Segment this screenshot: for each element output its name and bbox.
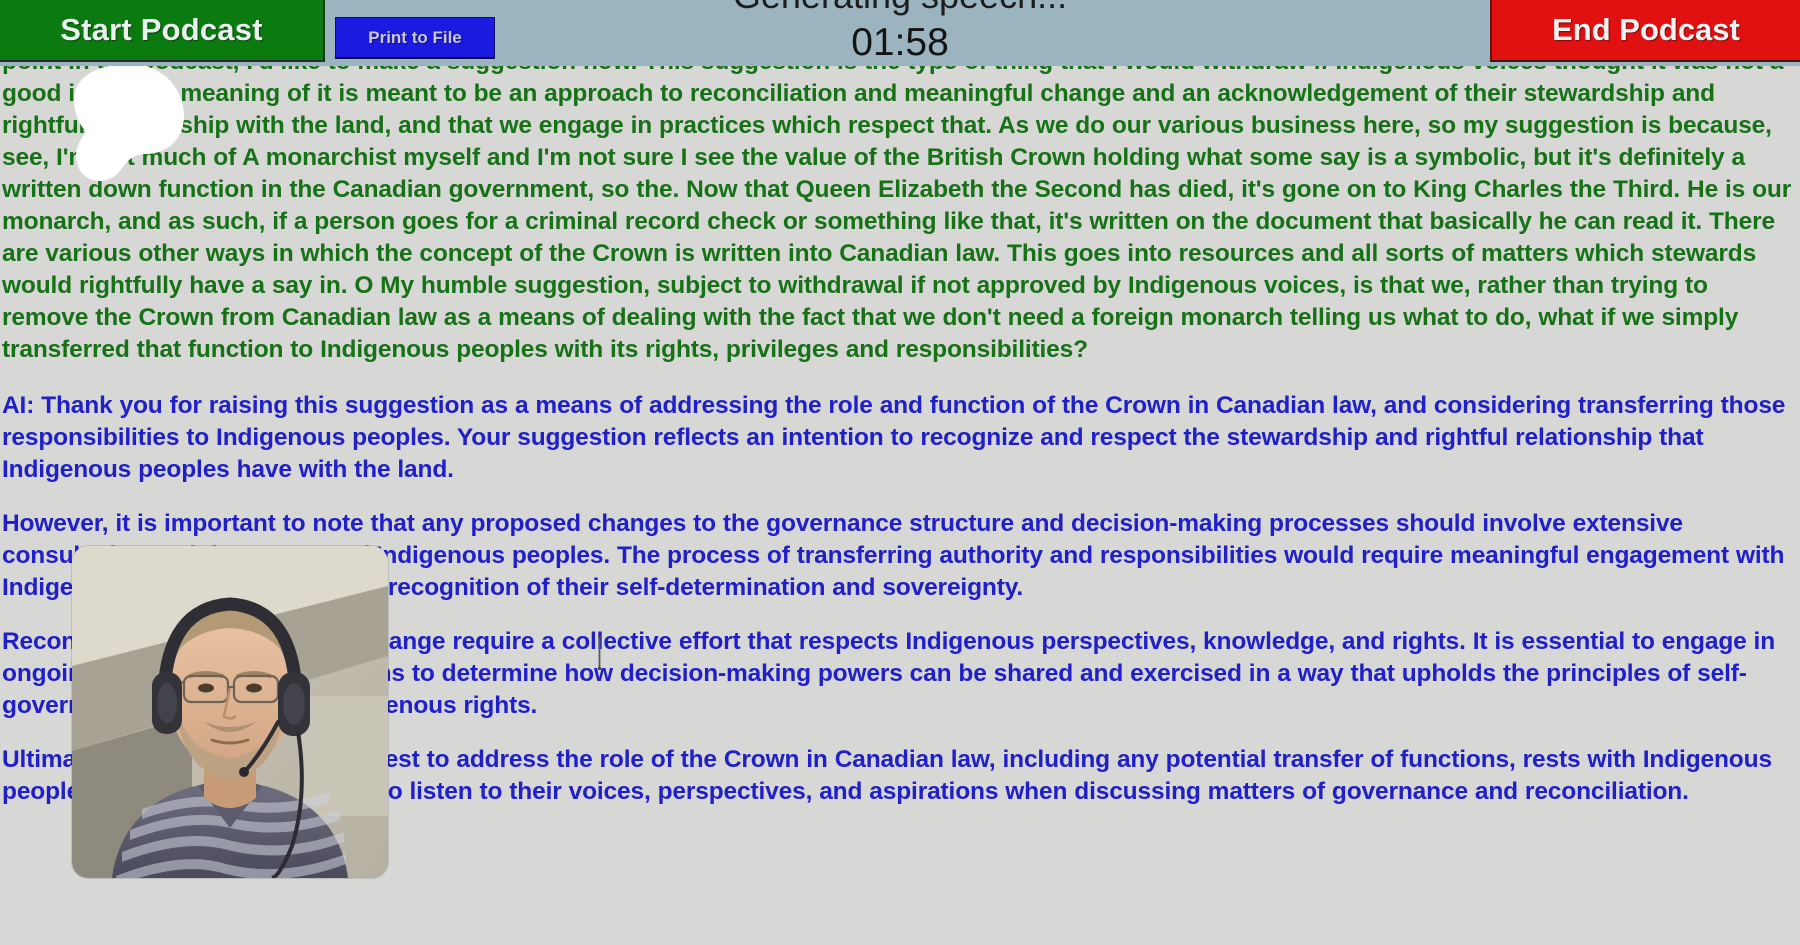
transcript-paragraph-ai: AI: Thank you for raising this suggestio…	[2, 390, 1796, 486]
status-block: Generating speech... 01:58	[620, 0, 1180, 66]
transcript-paragraph-human: point in the podcast, I'd like to make a…	[2, 66, 1796, 366]
print-to-file-button[interactable]: Print to File	[335, 17, 495, 59]
end-podcast-button[interactable]: End Podcast	[1490, 0, 1800, 62]
toolbar: Start Podcast Print to File Generating s…	[0, 0, 1800, 66]
elapsed-timer: 01:58	[620, 20, 1180, 66]
podcast-app-window: Start Podcast Print to File Generating s…	[0, 0, 1800, 945]
webcam-frame-icon	[72, 546, 388, 878]
webcam-video-overlay[interactable]	[72, 546, 388, 878]
start-podcast-button[interactable]: Start Podcast	[0, 0, 325, 62]
status-message: Generating speech...	[620, 0, 1180, 16]
